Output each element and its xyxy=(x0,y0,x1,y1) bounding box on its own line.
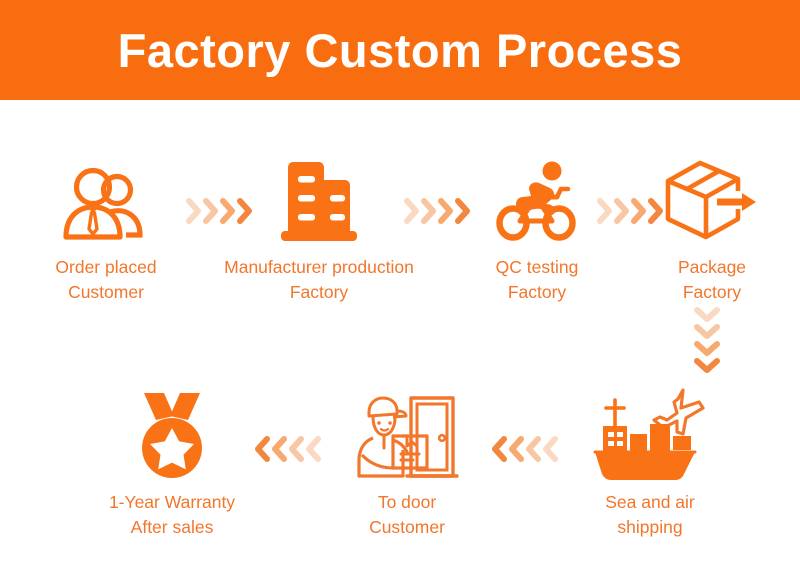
label-line-1: To door xyxy=(378,492,436,512)
customers-icon xyxy=(12,155,200,247)
label-line-1: Order placed xyxy=(55,257,156,277)
label-line-1: Package xyxy=(678,257,746,277)
label-line-2: After sales xyxy=(78,515,266,540)
label-line-1: Manufacturer production xyxy=(224,257,414,277)
label-line-2: shipping xyxy=(570,515,730,540)
cyclist-icon xyxy=(456,155,618,247)
chevrons-down xyxy=(694,307,720,374)
flow-step-label: Sea and air shipping xyxy=(570,490,730,540)
flow-step-label: Package Factory xyxy=(636,255,788,305)
flow-step-manufacturer-production: Manufacturer production Factory xyxy=(200,155,438,305)
flow-step-label: QC testing Factory xyxy=(456,255,618,305)
page-title: Factory Custom Process xyxy=(118,27,683,74)
label-line-1: 1-Year Warranty xyxy=(109,492,235,512)
label-line-2: Factory xyxy=(200,280,438,305)
flow-step-label: 1-Year Warranty After sales xyxy=(78,490,266,540)
package-box-arrow-icon xyxy=(636,155,788,247)
flow-step-package: Package Factory xyxy=(636,155,788,305)
flow-step-order-placed: Order placed Customer xyxy=(12,155,200,305)
chevrons-left-2 xyxy=(492,436,559,462)
label-line-2: Factory xyxy=(636,280,788,305)
delivery-person-door-icon xyxy=(322,390,492,482)
flow-step-warranty: 1-Year Warranty After sales xyxy=(78,390,266,540)
flow-step-qc-testing: QC testing Factory xyxy=(456,155,618,305)
label-line-2: Factory xyxy=(456,280,618,305)
medal-star-icon xyxy=(78,390,266,482)
label-line-2: Customer xyxy=(322,515,492,540)
factory-building-icon xyxy=(200,155,438,247)
flow-step-label: Manufacturer production Factory xyxy=(200,255,438,305)
label-line-1: QC testing xyxy=(496,257,579,277)
flow-step-label: Order placed Customer xyxy=(12,255,200,305)
flow-step-label: To door Customer xyxy=(322,490,492,540)
flow-step-sea-and-air-shipping: Sea and air shipping xyxy=(570,390,730,540)
page-header-banner: Factory Custom Process xyxy=(0,0,800,100)
chevrons-left-1 xyxy=(255,436,322,462)
ship-plane-icon xyxy=(570,390,730,482)
label-line-2: Customer xyxy=(12,280,200,305)
flow-step-to-door: To door Customer xyxy=(322,390,492,540)
process-flow-diagram: Order placed Customer xyxy=(0,100,800,574)
label-line-1: Sea and air xyxy=(605,492,695,512)
